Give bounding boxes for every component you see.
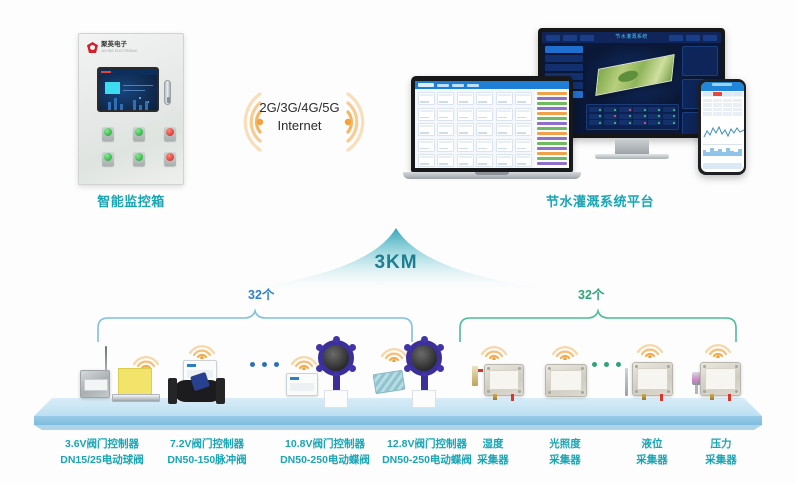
label-pressure-collector: 压力 采集器 <box>686 437 756 469</box>
laptop-status-list <box>535 89 569 168</box>
ball-valve-dn15-25 <box>118 368 152 398</box>
brand-subtitle: JUYING ELECTRONIC <box>101 49 138 53</box>
label-level-collector: 液位 采集器 <box>617 437 687 469</box>
coverage-range-fan: 3KM <box>246 228 546 290</box>
indicator-row-2 <box>102 152 176 166</box>
brand-mark-icon <box>87 42 98 53</box>
cabinet-hmi-screen <box>97 67 159 112</box>
monitor-dashboard-title: 节水灌溉系统 <box>615 33 647 40</box>
wifi-signal-icon <box>549 338 581 360</box>
wifi-signal-icon <box>634 336 666 358</box>
laptop-device-card-grid <box>415 89 535 168</box>
monitor-field-map-3d <box>586 46 684 108</box>
ellipsis-right-group <box>592 362 621 367</box>
butterfly-valve-dn50-250-b <box>406 340 442 376</box>
mobile-phone <box>698 79 746 175</box>
monitor-status-grid <box>586 104 679 130</box>
brand-name: 聚英电子 <box>101 42 138 49</box>
platform-caption: 节水灌溉系统平台 <box>470 191 730 210</box>
wifi-signal-icon <box>478 338 510 360</box>
bracket-label-right: 32个 <box>578 284 604 303</box>
bracket-label-left: 32个 <box>248 284 274 303</box>
indicator-light-green[interactable] <box>133 152 145 166</box>
pressure-collector-device <box>700 362 741 396</box>
label-humidity-collector: 湿度 采集器 <box>458 437 528 469</box>
humidity-sensor-probe <box>472 366 478 386</box>
indicator-light-green[interactable] <box>102 152 114 166</box>
label-line-1: 光照度 <box>526 437 604 453</box>
cabinet-brand-logo: 聚英电子 JUYING ELECTRONIC <box>87 42 138 53</box>
level-collector-device <box>632 362 673 396</box>
system-architecture-diagram: 聚英电子 JUYING ELECTRONIC <box>0 0 796 484</box>
gateway-controller-3v6 <box>80 370 110 398</box>
label-line-2: 采集器 <box>686 453 756 469</box>
indicator-light-red[interactable] <box>164 152 176 166</box>
range-label: 3KM <box>246 252 546 274</box>
ellipsis-left-group <box>250 362 279 367</box>
label-line-2: DN50-150脉冲阀 <box>147 453 267 469</box>
label-line-1: 湿度 <box>458 437 528 453</box>
bracket-left <box>96 308 416 344</box>
laptop-dashboard-screen <box>415 81 569 168</box>
label-line-2: 采集器 <box>458 453 528 469</box>
label-line-1: 7.2V阀门控制器 <box>147 437 267 453</box>
indicator-light-red[interactable] <box>164 127 176 141</box>
wifi-signal-icon <box>130 348 162 370</box>
wireless-waves-right <box>342 88 398 161</box>
indicator-light-green[interactable] <box>102 127 114 141</box>
ground-platform <box>32 398 762 432</box>
label-line-1: 3.6V阀门控制器 <box>42 437 162 453</box>
phone-trend-chart <box>703 119 742 145</box>
label-valve-controller-7v2: 7.2V阀门控制器 DN50-150脉冲阀 <box>147 437 267 469</box>
wifi-signal-icon <box>702 336 734 358</box>
signal-waves-icon <box>342 88 398 156</box>
humidity-collector-device <box>484 364 524 396</box>
phone-app-screen <box>701 82 744 172</box>
cabinet-door-handle[interactable] <box>164 80 171 105</box>
network-label: 2G/3G/4G/5G Internet <box>247 99 352 134</box>
label-line-2: 采集器 <box>526 453 604 469</box>
label-line-2: 采集器 <box>617 453 687 469</box>
illuminance-collector-device <box>545 364 587 397</box>
label-line-2: DN15/25电动球阀 <box>42 453 162 469</box>
cabinet-caption: 智能监控箱 <box>50 191 212 210</box>
indicator-row-1 <box>102 127 176 141</box>
level-probe-rod <box>625 368 628 396</box>
label-line-1: 压力 <box>686 437 756 453</box>
label-valve-controller-3v6: 3.6V阀门控制器 DN15/25电动球阀 <box>42 437 162 469</box>
butterfly-valve-dn50-250-a <box>318 340 354 376</box>
label-line-1: 液位 <box>617 437 687 453</box>
pulse-valve-dn50-150 <box>172 380 221 402</box>
laptop-computer <box>403 76 581 182</box>
network-line-1: 2G/3G/4G/5G <box>247 99 352 117</box>
smart-control-cabinet: 聚英电子 JUYING ELECTRONIC <box>78 33 184 185</box>
indicator-light-green[interactable] <box>133 127 145 141</box>
valve-controller-box-10v8 <box>286 373 318 396</box>
label-illuminance-collector: 光照度 采集器 <box>526 437 604 469</box>
wifi-signal-icon <box>186 337 218 359</box>
valve-controller-box-12v8 <box>374 372 404 392</box>
network-line-2: Internet <box>247 117 352 135</box>
